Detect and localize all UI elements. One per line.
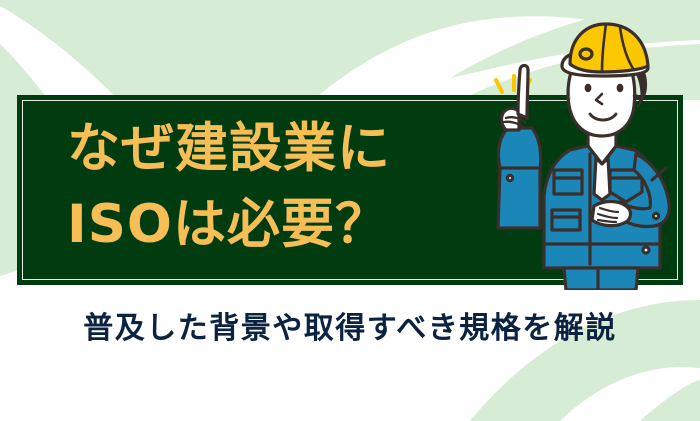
headline-line-2: ISOは必要？	[67, 187, 391, 263]
banner-subtitle: 普及した背景や取得すべき規格を解説	[0, 303, 700, 347]
headline-text-group: なぜ建設業に ISOは必要？	[67, 111, 391, 263]
construction-worker-illustration	[470, 18, 700, 290]
iso-construction-banner: なぜ建設業に ISOは必要？	[0, 0, 700, 421]
headline-line-1: なぜ建設業に	[67, 111, 391, 187]
